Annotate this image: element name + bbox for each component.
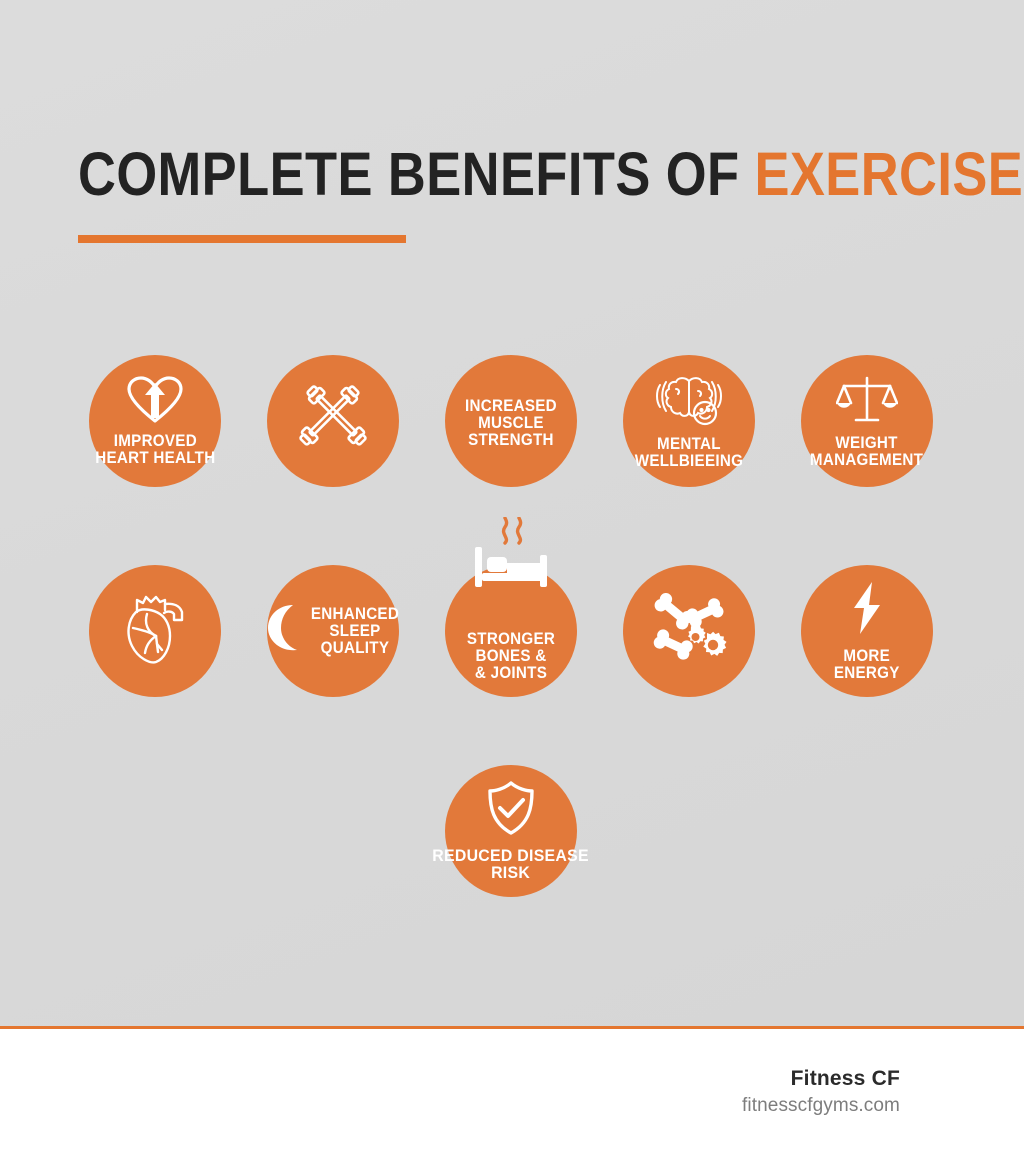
brand-name: Fitness CF (791, 1067, 900, 1091)
heart-up-arrow-icon (126, 376, 184, 429)
benefit-more-energy[interactable]: MORE ENERGY (801, 565, 933, 697)
benefit-anatomical-heart[interactable] (89, 565, 221, 697)
benefit-enhanced-sleep-quality[interactable]: ENHANCED SLEEP QUALITY (267, 565, 399, 697)
benefit-stronger-bones-joints[interactable]: STRONGER BONES & & JOINTS (445, 565, 577, 697)
benefit-label: INCREASED MUSCLE STRENGTH (465, 398, 557, 449)
benefit-label: IMPROVED HEART HEALTH (95, 433, 215, 467)
benefit-mental-wellbieeing[interactable]: MENTAL WELLBIEEING (623, 355, 755, 487)
balance-scales-icon (836, 374, 898, 431)
benefit-bones-gears[interactable] (623, 565, 755, 697)
brain-smiley-icon (652, 373, 726, 432)
anatomical-heart-icon (120, 590, 190, 673)
benefit-reduced-disease-risk[interactable]: REDUCED DISEASE RISK (445, 765, 577, 897)
benefit-label: MENTAL WELLBIEEING (635, 436, 743, 470)
infographic-poster: COMPLETE BENEFITS OF EXERCISE IMPROVED H… (0, 0, 1024, 1154)
bones-gears-icon (651, 593, 727, 670)
poster-canvas: COMPLETE BENEFITS OF EXERCISE IMPROVED H… (0, 0, 1024, 1031)
benefit-label: WEIGHT MANAGEMENT (810, 435, 923, 469)
benefit-label: MORE ENERGY (834, 648, 900, 682)
benefit-weight-management[interactable]: WEIGHT MANAGEMENT (801, 355, 933, 487)
bed-icon (465, 517, 557, 594)
crossed-dumbbells-icon (295, 381, 371, 462)
benefit-label: REDUCED DISEASE RISK (433, 848, 590, 882)
shield-check-icon (485, 780, 537, 841)
benefit-improved-heart-health[interactable]: IMPROVED HEART HEALTH (89, 355, 221, 487)
footer: Fitness CF fitnesscfgyms.com (0, 1029, 1024, 1154)
lightning-bolt-icon (847, 581, 887, 640)
crescent-moon-icon (263, 602, 303, 661)
benefit-dumbbells[interactable] (267, 355, 399, 487)
benefits-grid: IMPROVED HEART HEALTH (0, 0, 1024, 1031)
benefit-label: ENHANCED SLEEP QUALITY (311, 606, 399, 657)
benefit-label: STRONGER BONES & & JOINTS (467, 631, 555, 682)
benefit-increased-muscle-strength[interactable]: INCREASED MUSCLE STRENGTH (445, 355, 577, 487)
brand-url[interactable]: fitnesscfgyms.com (742, 1095, 900, 1117)
